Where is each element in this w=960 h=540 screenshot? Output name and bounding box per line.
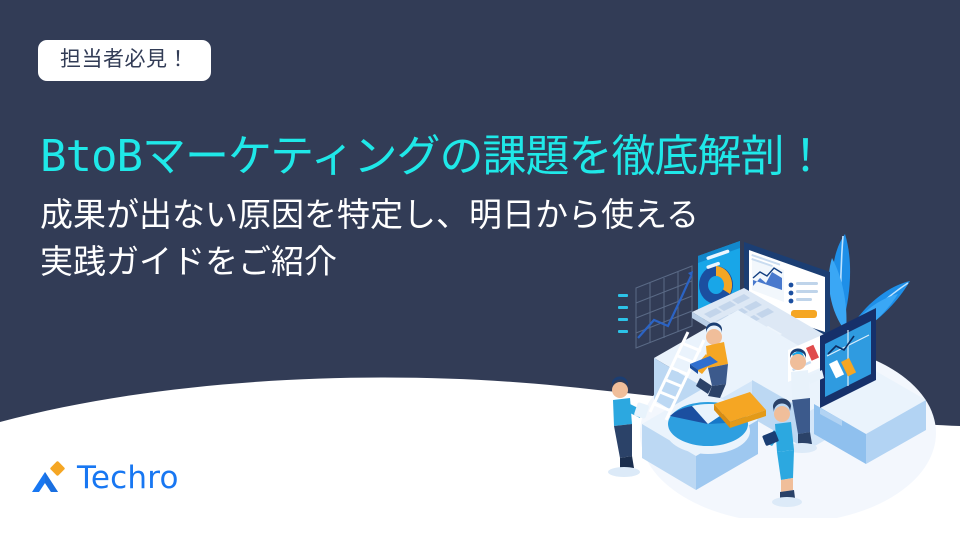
brand-logo-text: Techro	[77, 463, 179, 494]
badge-label: 担当者必見！	[38, 40, 211, 81]
page-subtitle: 成果が出ない原因を特定し、明日から使える 実践ガイドをご紹介	[40, 192, 699, 286]
slide-canvas: 担当者必見！ BtoBマーケティングの課題を徹底解剖！ 成果が出ない原因を特定し…	[0, 0, 960, 540]
brand-logo: Techro	[28, 460, 179, 496]
techro-chevron-icon	[28, 460, 68, 496]
page-title: BtoBマーケティングの課題を徹底解剖！	[40, 132, 826, 182]
